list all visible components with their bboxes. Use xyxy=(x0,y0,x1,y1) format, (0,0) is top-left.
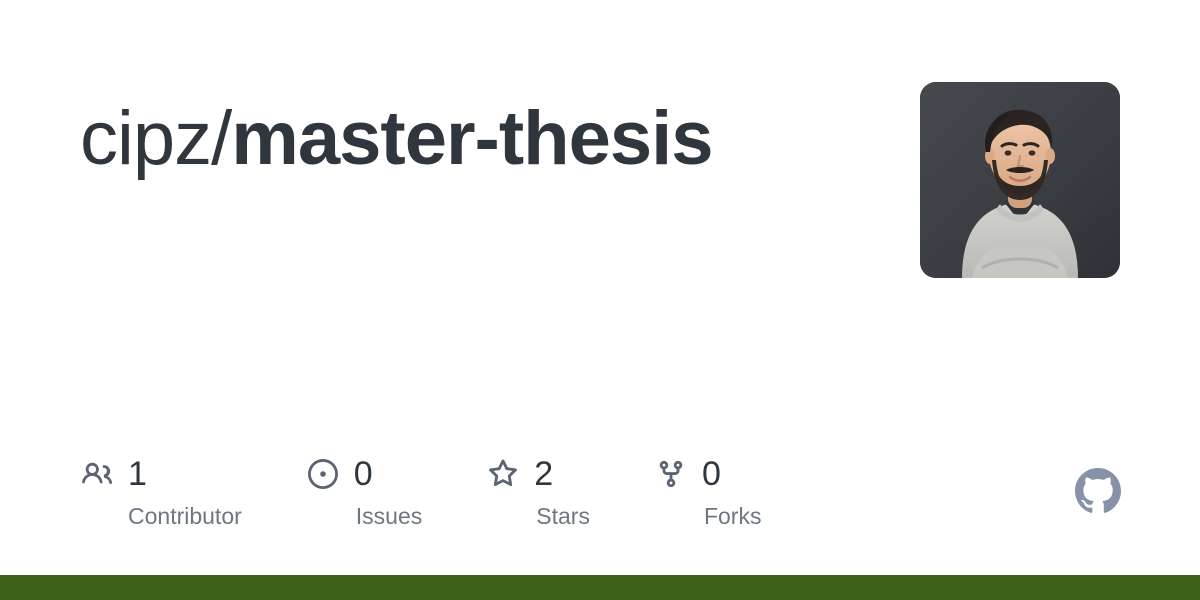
stat-contributors-count: 1 xyxy=(128,457,147,491)
repository-social-card: cipz/master-thesis xyxy=(0,0,1200,600)
repo-forked-icon xyxy=(654,457,688,491)
stat-forks: 0 Forks xyxy=(654,452,762,528)
stat-forks-label: Forks xyxy=(654,505,762,528)
stat-forks-count: 0 xyxy=(702,457,721,491)
stat-issues-top: 0 xyxy=(306,452,373,496)
github-mark-icon xyxy=(1075,468,1121,514)
stat-stars-top: 2 xyxy=(486,452,553,496)
star-icon xyxy=(486,457,520,491)
stat-forks-top: 0 xyxy=(654,452,721,496)
stat-stars: 2 Stars xyxy=(486,452,590,528)
stat-issues: 0 Issues xyxy=(306,452,422,528)
repository-separator: / xyxy=(211,96,231,181)
repository-name: master-thesis xyxy=(231,96,712,181)
stat-stars-count: 2 xyxy=(534,457,553,491)
people-icon xyxy=(80,457,114,491)
accent-bar xyxy=(0,575,1200,600)
repository-stats: 1 Contributor 0 Issues xyxy=(80,452,761,528)
repository-title-row: cipz/master-thesis xyxy=(80,84,880,194)
stat-issues-label: Issues xyxy=(306,505,422,528)
stat-stars-label: Stars xyxy=(486,505,590,528)
avatar xyxy=(920,82,1120,278)
stat-contributors: 1 Contributor xyxy=(80,452,242,528)
page-title: cipz/master-thesis xyxy=(80,99,713,179)
stat-issues-count: 0 xyxy=(354,457,373,491)
repository-owner: cipz xyxy=(80,96,211,181)
issue-opened-icon xyxy=(306,457,340,491)
stat-contributors-label: Contributor xyxy=(80,505,242,528)
stat-contributors-top: 1 xyxy=(80,452,147,496)
